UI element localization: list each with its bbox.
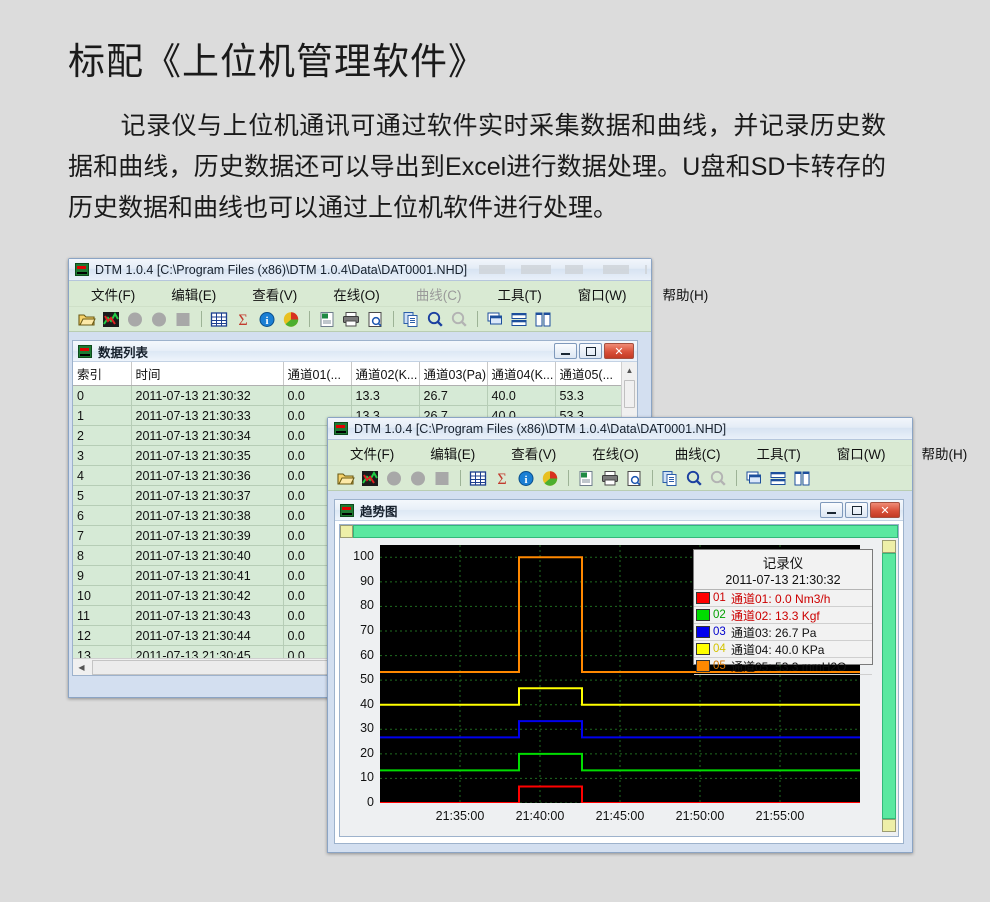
- table-cell: 2011-07-13 21:30:40: [131, 546, 283, 566]
- menu-view[interactable]: 查看(V): [511, 443, 556, 463]
- x-axis-tick-label: 21:45:00: [588, 809, 652, 823]
- table-cell: 13.3: [351, 386, 419, 406]
- table-cell: 2011-07-13 21:30:39: [131, 526, 283, 546]
- y-axis-tick-label: 70: [348, 623, 374, 637]
- scroll-thumb[interactable]: [624, 380, 635, 408]
- legend-channel-number: 02: [713, 609, 731, 621]
- menu-edit[interactable]: 编辑(E): [430, 443, 475, 463]
- legend-row[interactable]: 04通道04: 40.0 KPa: [694, 641, 872, 658]
- menu-online[interactable]: 在线(O): [592, 443, 639, 463]
- close-button[interactable]: ✕: [604, 343, 634, 359]
- trend-titlebar[interactable]: 趋势图 ✕: [335, 500, 903, 521]
- y-axis-tick-label: 20: [348, 746, 374, 760]
- menu-tools[interactable]: 工具(T): [757, 443, 801, 463]
- table-cell: 53.3: [555, 386, 621, 406]
- app-icon: [75, 263, 89, 276]
- column-header-1[interactable]: 时间: [131, 362, 283, 386]
- zoom-in-icon[interactable]: [425, 310, 445, 329]
- table-cell: 2011-07-13 21:30:37: [131, 486, 283, 506]
- sigma-statistics-icon[interactable]: Σ: [233, 310, 253, 329]
- open-folder-icon[interactable]: [77, 310, 97, 329]
- square-stop-icon[interactable]: [173, 310, 193, 329]
- chart-data-icon[interactable]: [360, 469, 380, 488]
- y-axis-tick-label: 90: [348, 574, 374, 588]
- table-cell: 2: [73, 426, 131, 446]
- maximize-button[interactable]: [579, 343, 602, 359]
- info-icon[interactable]: i: [516, 469, 536, 488]
- table-grid-icon[interactable]: [468, 469, 488, 488]
- x-axis-tick-label: 21:50:00: [668, 809, 732, 823]
- svg-text:Σ: Σ: [497, 471, 506, 488]
- y-axis-tick-label: 0: [348, 795, 374, 809]
- table-cell: 5: [73, 486, 131, 506]
- legend-channel-value: 通道01: 0.0 Nm3/h: [731, 590, 830, 607]
- page-title: 标配《上位机管理软件》: [68, 31, 486, 85]
- titlebar-blur-overlay: [479, 265, 647, 274]
- table-cell: 2011-07-13 21:30:35: [131, 446, 283, 466]
- toolbar-separator: [309, 311, 310, 327]
- window-title: DTM 1.0.4 [C:\Program Files (x86)\DTM 1.…: [354, 422, 726, 436]
- menu-curve[interactable]: 曲线(C): [416, 284, 462, 304]
- legend-channel-number: 05: [713, 660, 731, 672]
- legend-color-swatch: [696, 609, 710, 621]
- table-cell: 2011-07-13 21:30:33: [131, 406, 283, 426]
- circle-record-icon[interactable]: [384, 469, 404, 488]
- sigma-statistics-icon[interactable]: Σ: [492, 469, 512, 488]
- column-header-4[interactable]: 通道03(Pa): [419, 362, 487, 386]
- paragraph-text: 记录仪与上位机通讯可通过软件实时采集数据和曲线，并记录历史数据和曲线，历史数据还…: [68, 112, 886, 222]
- table-cell: 2011-07-13 21:30:43: [131, 606, 283, 626]
- legend-row[interactable]: 05通道05: 53.3 mmH2O: [694, 658, 872, 675]
- menu-edit[interactable]: 编辑(E): [171, 284, 216, 304]
- legend-channel-value: 通道05: 53.3 mmH2O: [731, 658, 846, 675]
- legend-channel-value: 通道02: 13.3 Kgf: [731, 607, 820, 624]
- legend-channel-number: 01: [713, 592, 731, 604]
- circle-stop-icon[interactable]: [149, 310, 169, 329]
- table-row[interactable]: 02011-07-13 21:30:320.013.326.740.053.3: [73, 386, 621, 406]
- table-cell: 0.0: [283, 386, 351, 406]
- table-cell: 4: [73, 466, 131, 486]
- legend-channel-value: 通道03: 26.7 Pa: [731, 624, 816, 641]
- table-cell: 0: [73, 386, 131, 406]
- export-excel-icon[interactable]: [317, 310, 337, 329]
- menu-window[interactable]: 窗口(W): [578, 284, 627, 304]
- trend-window[interactable]: 趋势图 ✕ 0102030405060708090100: [334, 499, 904, 844]
- circle-record-icon[interactable]: [125, 310, 145, 329]
- legend-title: 记录仪: [694, 550, 872, 572]
- column-header-3[interactable]: 通道02(K...: [351, 362, 419, 386]
- menu-file[interactable]: 文件(F): [350, 443, 394, 463]
- pie-chart-icon[interactable]: [281, 310, 301, 329]
- chart-data-icon[interactable]: [101, 310, 121, 329]
- table-cell: 1: [73, 406, 131, 426]
- table-cell: 2011-07-13 21:30:32: [131, 386, 283, 406]
- tile-vertical-icon[interactable]: [792, 469, 812, 488]
- tile-horizontal-icon[interactable]: [768, 469, 788, 488]
- open-folder-icon[interactable]: [336, 469, 356, 488]
- trend-icon: [340, 504, 354, 517]
- menu-help[interactable]: 帮助(H): [662, 284, 708, 304]
- column-header-0[interactable]: 索引: [73, 362, 131, 386]
- legend-channel-number: 03: [713, 626, 731, 638]
- color-strip-bar[interactable]: [353, 525, 898, 538]
- circle-stop-icon[interactable]: [408, 469, 428, 488]
- copy-icon[interactable]: [401, 310, 421, 329]
- cascade-windows-icon[interactable]: [485, 310, 505, 329]
- maximize-button[interactable]: [845, 502, 868, 518]
- minimize-button[interactable]: [820, 502, 843, 518]
- x-axis-tick-label: 21:55:00: [748, 809, 812, 823]
- menu-curve[interactable]: 曲线(C): [675, 443, 721, 463]
- toolbar-back[interactable]: Σ i: [69, 307, 651, 332]
- svg-text:i: i: [265, 315, 268, 327]
- svg-text:i: i: [524, 474, 527, 486]
- trend-window-buttons: ✕: [820, 502, 900, 518]
- table-cell: 40.0: [487, 386, 555, 406]
- menubar-front[interactable]: 文件(F) 编辑(E) 查看(V) 在线(O) 曲线(C) 工具(T) 窗口(W…: [328, 440, 912, 466]
- print-icon[interactable]: [341, 310, 361, 329]
- menu-window[interactable]: 窗口(W): [837, 443, 886, 463]
- trend-chart-panel: 0102030405060708090100 21:35:0021:40:002…: [339, 524, 899, 837]
- tile-vertical-icon[interactable]: [533, 310, 553, 329]
- y-axis-tick-label: 50: [348, 672, 374, 686]
- print-preview-icon[interactable]: [624, 469, 644, 488]
- legend-color-swatch: [696, 643, 710, 655]
- zoom-out-icon[interactable]: [708, 469, 728, 488]
- app-icon: [334, 422, 348, 435]
- table-cell: 11: [73, 606, 131, 626]
- x-axis-tick-label: 21:40:00: [508, 809, 572, 823]
- dtm-window-front[interactable]: DTM 1.0.4 [C:\Program Files (x86)\DTM 1.…: [327, 417, 913, 853]
- menubar-back[interactable]: 文件(F) 编辑(E) 查看(V) 在线(O) 曲线(C) 工具(T) 窗口(W…: [69, 281, 651, 307]
- cascade-windows-icon[interactable]: [744, 469, 764, 488]
- zoom-out-icon[interactable]: [449, 310, 469, 329]
- y-axis-tick-label: 60: [348, 648, 374, 662]
- y-axis-tick-label: 80: [348, 598, 374, 612]
- menu-online[interactable]: 在线(O): [333, 284, 380, 304]
- print-icon[interactable]: [600, 469, 620, 488]
- legend-color-swatch: [696, 592, 710, 604]
- legend-row[interactable]: 01通道01: 0.0 Nm3/h: [694, 590, 872, 607]
- square-stop-icon[interactable]: [432, 469, 452, 488]
- toolbar-separator: [393, 311, 394, 327]
- scroll-up-icon[interactable]: ▲: [622, 362, 637, 379]
- color-strip-marker-bottom[interactable]: [882, 819, 896, 832]
- table-header-row: 索引时间通道01(...通道02(K...通道03(Pa)通道04(K...通道…: [73, 362, 621, 386]
- chart-legend[interactable]: 记录仪 2011-07-13 21:30:32 01通道01: 0.0 Nm3/…: [693, 549, 873, 665]
- table-grid-icon[interactable]: [209, 310, 229, 329]
- tile-horizontal-icon[interactable]: [509, 310, 529, 329]
- table-cell: 2011-07-13 21:30:45: [131, 646, 283, 659]
- column-header-5[interactable]: 通道04(K...: [487, 362, 555, 386]
- menu-tools[interactable]: 工具(T): [498, 284, 542, 304]
- pie-chart-icon[interactable]: [540, 469, 560, 488]
- page-paragraph: 记录仪与上位机通讯可通过软件实时采集数据和曲线，并记录历史数据和曲线，历史数据还…: [68, 106, 886, 229]
- table-cell: 3: [73, 446, 131, 466]
- toolbar-separator: [568, 470, 569, 486]
- table-cell: 2011-07-13 21:30:41: [131, 566, 283, 586]
- color-strip-bar-vertical[interactable]: [882, 553, 896, 819]
- table-cell: 9: [73, 566, 131, 586]
- toolbar-separator: [736, 470, 737, 486]
- color-strip-marker[interactable]: [340, 525, 353, 538]
- table-cell: 2011-07-13 21:30:44: [131, 626, 283, 646]
- datalist-icon: [78, 345, 92, 358]
- chart-right-color-strip[interactable]: [882, 540, 896, 832]
- menu-view[interactable]: 查看(V): [252, 284, 297, 304]
- copy-icon[interactable]: [660, 469, 680, 488]
- close-button[interactable]: ✕: [870, 502, 900, 518]
- y-axis-tick-label: 30: [348, 721, 374, 735]
- datalist-titlebar[interactable]: 数据列表 ✕: [73, 341, 637, 362]
- table-cell: 10: [73, 586, 131, 606]
- scroll-left-icon[interactable]: ◀: [73, 663, 90, 672]
- y-axis-tick-label: 10: [348, 770, 374, 784]
- table-cell: 26.7: [419, 386, 487, 406]
- datalist-window-buttons: ✕: [554, 343, 634, 359]
- trend-title: 趋势图: [360, 501, 398, 520]
- menu-help[interactable]: 帮助(H): [921, 443, 967, 463]
- table-cell: 6: [73, 506, 131, 526]
- column-header-2[interactable]: 通道01(...: [283, 362, 351, 386]
- zoom-in-icon[interactable]: [684, 469, 704, 488]
- datalist-title: 数据列表: [98, 342, 148, 361]
- x-axis-tick-label: 21:35:00: [428, 809, 492, 823]
- table-cell: 13: [73, 646, 131, 659]
- y-axis-tick-label: 100: [348, 549, 374, 563]
- titlebar-front[interactable]: DTM 1.0.4 [C:\Program Files (x86)\DTM 1.…: [328, 418, 912, 440]
- chart-top-color-strip[interactable]: [340, 525, 898, 538]
- toolbar-front[interactable]: Σ i: [328, 466, 912, 491]
- legend-rows: 01通道01: 0.0 Nm3/h02通道02: 13.3 Kgf03通道03:…: [694, 590, 872, 675]
- legend-channel-value: 通道04: 40.0 KPa: [731, 641, 824, 658]
- toolbar-separator: [460, 470, 461, 486]
- table-cell: 2011-07-13 21:30:36: [131, 466, 283, 486]
- table-cell: 8: [73, 546, 131, 566]
- toolbar-separator: [652, 470, 653, 486]
- color-strip-marker-top[interactable]: [882, 540, 896, 553]
- y-axis-tick-label: 40: [348, 697, 374, 711]
- toolbar-separator: [477, 311, 478, 327]
- legend-timestamp: 2011-07-13 21:30:32: [694, 572, 872, 590]
- legend-color-swatch: [696, 660, 710, 672]
- table-cell: 2011-07-13 21:30:38: [131, 506, 283, 526]
- print-preview-icon[interactable]: [365, 310, 385, 329]
- info-icon[interactable]: i: [257, 310, 277, 329]
- table-cell: 2011-07-13 21:30:34: [131, 426, 283, 446]
- menu-file[interactable]: 文件(F): [91, 284, 135, 304]
- column-header-6[interactable]: 通道05(...: [555, 362, 621, 386]
- minimize-button[interactable]: [554, 343, 577, 359]
- export-excel-icon[interactable]: [576, 469, 596, 488]
- table-cell: 7: [73, 526, 131, 546]
- legend-color-swatch: [696, 626, 710, 638]
- svg-text:Σ: Σ: [238, 312, 247, 329]
- legend-row[interactable]: 03通道03: 26.7 Pa: [694, 624, 872, 641]
- window-title: DTM 1.0.4 [C:\Program Files (x86)\DTM 1.…: [95, 263, 467, 277]
- toolbar-separator: [201, 311, 202, 327]
- table-cell: 12: [73, 626, 131, 646]
- titlebar-back[interactable]: DTM 1.0.4 [C:\Program Files (x86)\DTM 1.…: [69, 259, 651, 281]
- table-cell: 2011-07-13 21:30:42: [131, 586, 283, 606]
- legend-row[interactable]: 02通道02: 13.3 Kgf: [694, 607, 872, 624]
- legend-channel-number: 04: [713, 643, 731, 655]
